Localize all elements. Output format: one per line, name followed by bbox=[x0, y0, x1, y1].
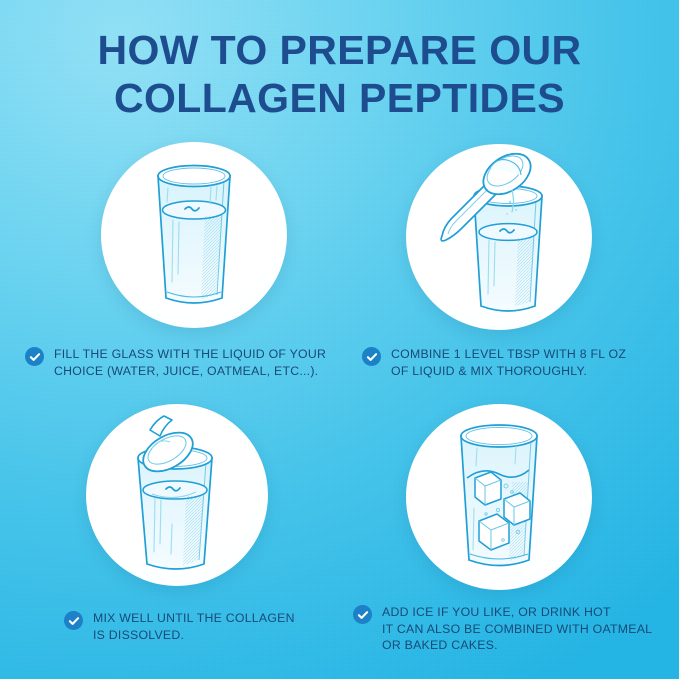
step-2-caption: COMBINE 1 LEVEL TBSP WITH 8 FL OZ OF LIQ… bbox=[362, 346, 662, 379]
step-3-caption-text: MIX WELL UNTIL THE COLLAGEN IS DISSOLVED… bbox=[93, 610, 295, 643]
step-3-caption: MIX WELL UNTIL THE COLLAGEN IS DISSOLVED… bbox=[64, 610, 344, 643]
check-circle-icon bbox=[64, 611, 83, 630]
step-4-caption-text: ADD ICE IF YOU LIKE, OR DRINK HOT IT CAN… bbox=[382, 604, 652, 654]
page-title-line-2: COLLAGEN PEPTIDES bbox=[0, 74, 679, 122]
step-panel-2: COMBINE 1 LEVEL TBSP WITH 8 FL OZ OF LIQ… bbox=[350, 136, 670, 396]
step-1-caption-text: FILL THE GLASS WITH THE LIQUID OF YOUR C… bbox=[54, 346, 326, 379]
check-circle-icon bbox=[362, 347, 381, 366]
step-panel-3: MIX WELL UNTIL THE COLLAGEN IS DISSOLVED… bbox=[18, 398, 348, 666]
step-panel-4: ADD ICE IF YOU LIKE, OR DRINK HOT IT CAN… bbox=[350, 398, 672, 666]
step-2-illustration-circle bbox=[406, 144, 592, 330]
step-1-caption: FILL THE GLASS WITH THE LIQUID OF YOUR C… bbox=[25, 346, 343, 379]
page-title-line-1: HOW TO PREPARE OUR bbox=[0, 26, 679, 74]
step-3-illustration-circle bbox=[86, 404, 268, 586]
step-4-illustration-circle bbox=[406, 404, 592, 590]
step-2-caption-text: COMBINE 1 LEVEL TBSP WITH 8 FL OZ OF LIQ… bbox=[391, 346, 626, 379]
spoon-stirring-glass-icon bbox=[86, 404, 268, 586]
step-1-illustration-circle bbox=[101, 142, 287, 328]
step-4-caption: ADD ICE IF YOU LIKE, OR DRINK HOT IT CAN… bbox=[353, 604, 669, 654]
tablespoon-pouring-into-glass-icon bbox=[406, 144, 592, 330]
page-title: HOW TO PREPARE OUR COLLAGEN PEPTIDES bbox=[0, 26, 679, 122]
glass-of-liquid-icon bbox=[101, 142, 287, 328]
glass-with-ice-cubes-icon bbox=[406, 404, 592, 590]
infographic-poster: HOW TO PREPARE OUR COLLAGEN PEPTIDES bbox=[0, 0, 679, 679]
step-panel-1: FILL THE GLASS WITH THE LIQUID OF YOUR C… bbox=[18, 136, 348, 396]
check-circle-icon bbox=[25, 347, 44, 366]
check-circle-icon bbox=[353, 605, 372, 624]
